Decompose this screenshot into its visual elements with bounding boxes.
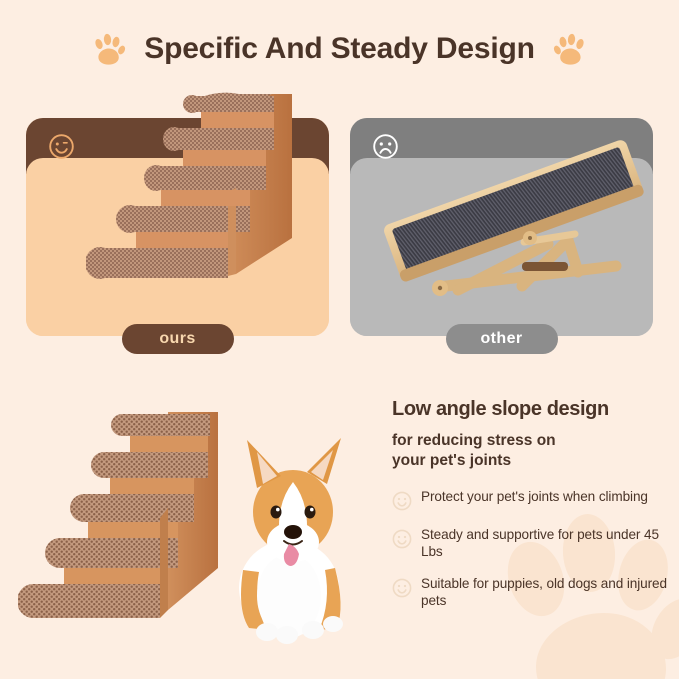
list-item-label: Protect your pet's joints when climbing: [421, 489, 648, 506]
feature-subheading-line-2: your pet's joints: [392, 451, 670, 471]
pet-stairs-foam-5-step-icon: [86, 88, 310, 308]
list-item: Protect your pet's joints when climbing: [392, 489, 670, 511]
list-item: Suitable for puppies, old dogs and injur…: [392, 576, 670, 610]
feature-copy: Low angle slope design for reducing stre…: [392, 398, 670, 626]
smiley-face-icon: [392, 578, 412, 598]
paw-print-icon: [92, 33, 126, 66]
smiley-face-icon: [392, 529, 412, 549]
label-pill-ours: ours: [122, 324, 234, 354]
feature-subheading: for reducing stress on your pet's joints: [392, 431, 670, 471]
feature-bullet-list: Protect your pet's joints when climbing …: [392, 489, 670, 610]
smiley-face-icon: [48, 133, 75, 160]
comparison-panels: ours: [0, 118, 679, 368]
list-item-label: Steady and supportive for pets under 45 …: [421, 527, 670, 561]
corgi-dog-photo-icon: [215, 420, 365, 645]
feature-heading: Low angle slope design: [392, 398, 670, 420]
comparison-panel-other: other: [350, 118, 653, 336]
feature-section: Low angle slope design for reducing stre…: [0, 380, 679, 679]
wooden-pet-ramp-icon: [372, 120, 662, 320]
label-pill-other: other: [446, 324, 558, 354]
feature-subheading-line-1: for reducing stress on: [392, 431, 670, 451]
infographic-page: Specific And Steady Design: [0, 0, 679, 679]
comparison-panel-ours: ours: [26, 118, 329, 336]
list-item: Steady and supportive for pets under 45 …: [392, 527, 670, 561]
page-title: Specific And Steady Design: [144, 32, 534, 66]
smiley-face-icon: [392, 491, 412, 511]
paw-print-icon: [553, 33, 587, 66]
list-item-label: Suitable for puppies, old dogs and injur…: [421, 576, 670, 610]
page-title-row: Specific And Steady Design: [0, 22, 679, 76]
